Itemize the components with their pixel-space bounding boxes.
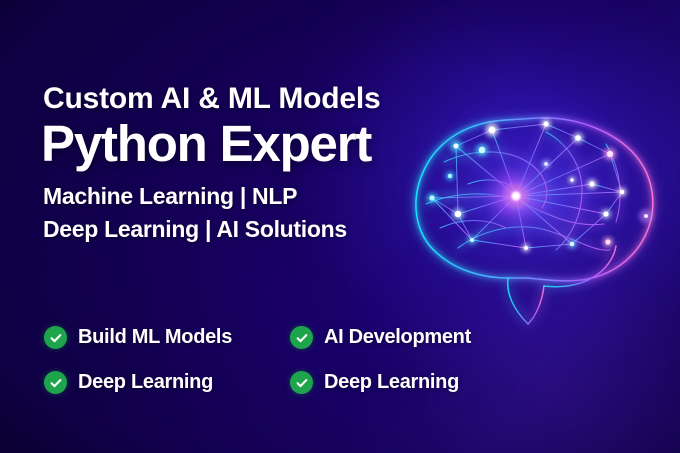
text-content: Custom AI & ML Models Python Expert Mach… (43, 84, 443, 245)
headline: Custom AI & ML Models (43, 84, 443, 114)
subline-primary: Machine Learning | NLP (43, 180, 443, 213)
feature-item: Deep Learning (44, 371, 290, 394)
feature-label: Deep Learning (324, 371, 459, 394)
check-circle-icon (290, 371, 313, 394)
feature-item: Deep Learning (290, 371, 524, 394)
check-circle-icon (44, 371, 67, 394)
check-circle-icon (290, 326, 313, 349)
feature-item: Build ML Models (44, 326, 290, 349)
feature-label: Build ML Models (78, 326, 232, 349)
feature-label: Deep Learning (78, 371, 213, 394)
feature-label: AI Development (324, 326, 471, 349)
subline-secondary: Deep Learning | AI Solutions (43, 213, 443, 246)
feature-item: AI Development (290, 326, 524, 349)
page-title: Python Expert (41, 118, 443, 170)
feature-list: Build ML Models AI Development Deep Lear… (44, 326, 524, 394)
promo-banner: Custom AI & ML Models Python Expert Mach… (0, 0, 680, 453)
check-circle-icon (44, 326, 67, 349)
